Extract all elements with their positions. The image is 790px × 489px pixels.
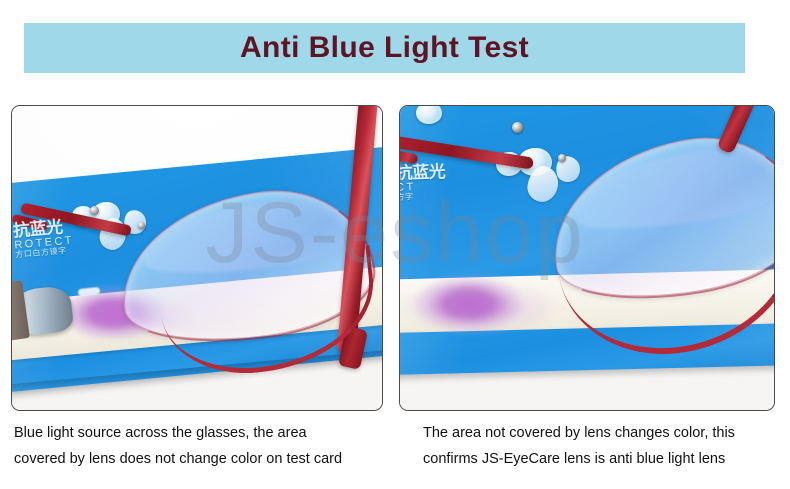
caption-left-line-2: covered by lens does not change color on… xyxy=(14,446,394,472)
photo-right-image: 抗蓝光 CT 方字 xyxy=(400,106,774,410)
hinge-screw-secondary xyxy=(558,154,566,162)
header-banner: Anti Blue Light Test xyxy=(24,23,745,73)
card-printed-text: 抗蓝光 ROTECT 方口白方镜字 xyxy=(12,217,75,260)
photo-panel-right: 抗蓝光 CT 方字 xyxy=(399,105,775,411)
card-print-line-small: 方字 xyxy=(400,193,446,203)
photo-panel-row: 抗蓝光 ROTECT 方口白方镜字 xyxy=(0,105,790,413)
caption-row: Blue light source across the glasses, th… xyxy=(0,420,790,489)
page-title: Anti Blue Light Test xyxy=(240,31,529,65)
hinge-screw xyxy=(512,122,523,133)
hinge-screw xyxy=(90,206,99,215)
photo-panel-left: 抗蓝光 ROTECT 方口白方镜字 xyxy=(11,105,383,411)
card-printed-text: 抗蓝光 CT 方字 xyxy=(400,163,446,202)
caption-right-line-2: confirms JS-EyeCare lens is anti blue li… xyxy=(423,446,783,472)
hinge-screw-secondary xyxy=(138,222,145,229)
photo-left-image: 抗蓝光 ROTECT 方口白方镜字 xyxy=(12,106,382,410)
uv-color-change-halo xyxy=(400,282,564,334)
card-print-line-big: 抗蓝光 xyxy=(400,163,445,183)
caption-left-line-1: Blue light source across the glasses, th… xyxy=(14,420,394,446)
caption-left: Blue light source across the glasses, th… xyxy=(14,420,394,472)
caption-right: The area not covered by lens changes col… xyxy=(423,420,783,472)
caption-right-line-1: The area not covered by lens changes col… xyxy=(423,420,783,446)
